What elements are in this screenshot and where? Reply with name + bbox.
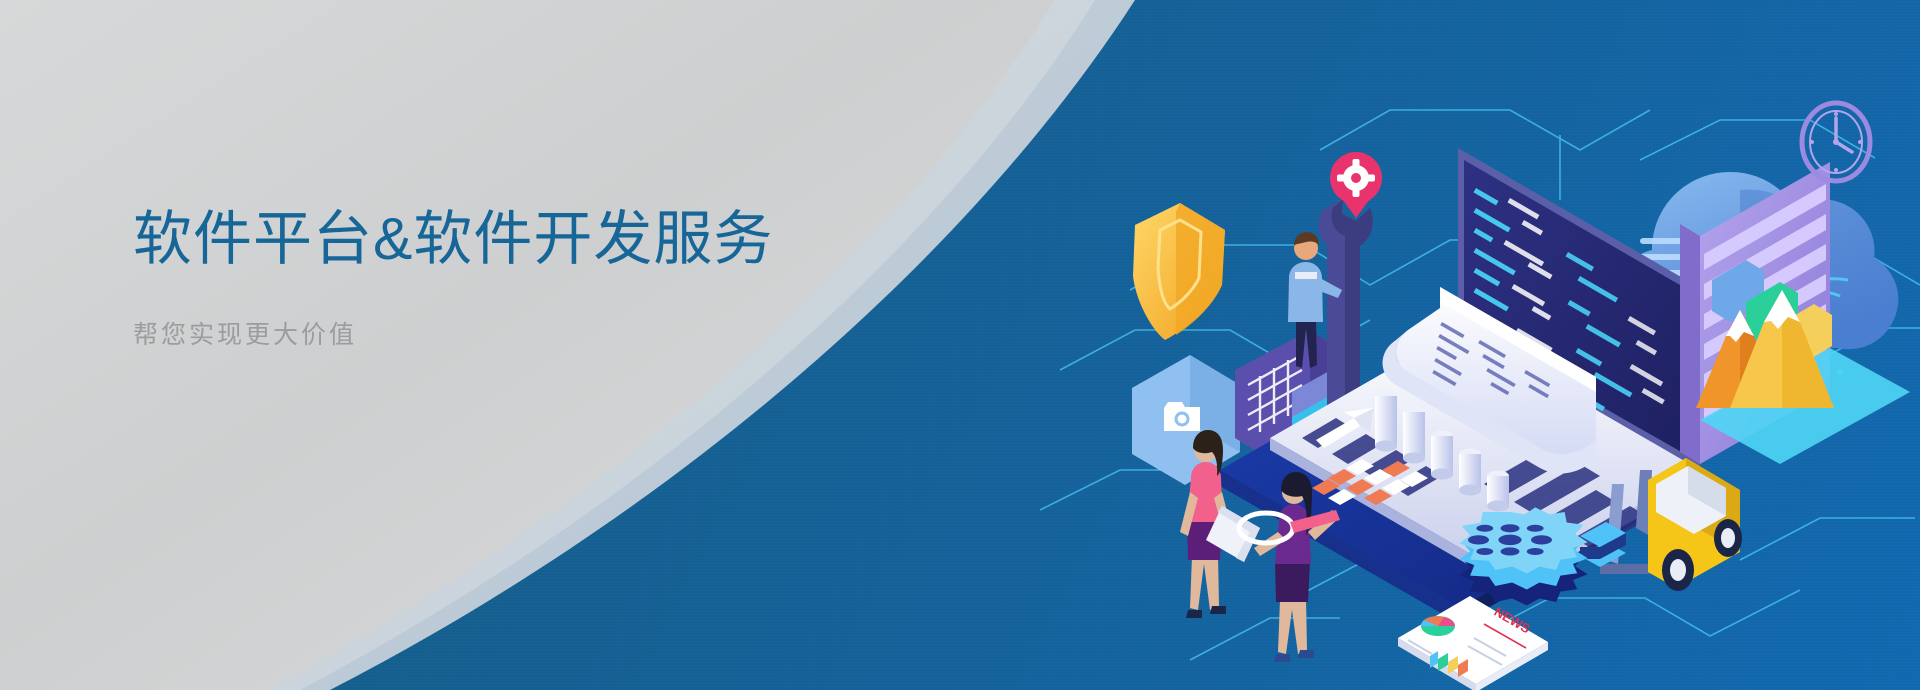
clock-icon [1802, 103, 1870, 181]
news-pie-chart [1421, 616, 1455, 636]
hero-banner: 软件平台&软件开发服务 帮您实现更大价值 [0, 0, 1920, 690]
page-subtitle: 帮您实现更大价值 [133, 315, 893, 351]
hero-illustration: NEWS [1040, 40, 1920, 690]
page-title: 软件平台&软件开发服务 [133, 205, 893, 275]
camera-icon [1132, 355, 1240, 485]
banner-copy: 软件平台&软件开发服务 帮您实现更大价值 [133, 205, 893, 351]
shield-icon [1133, 203, 1225, 340]
